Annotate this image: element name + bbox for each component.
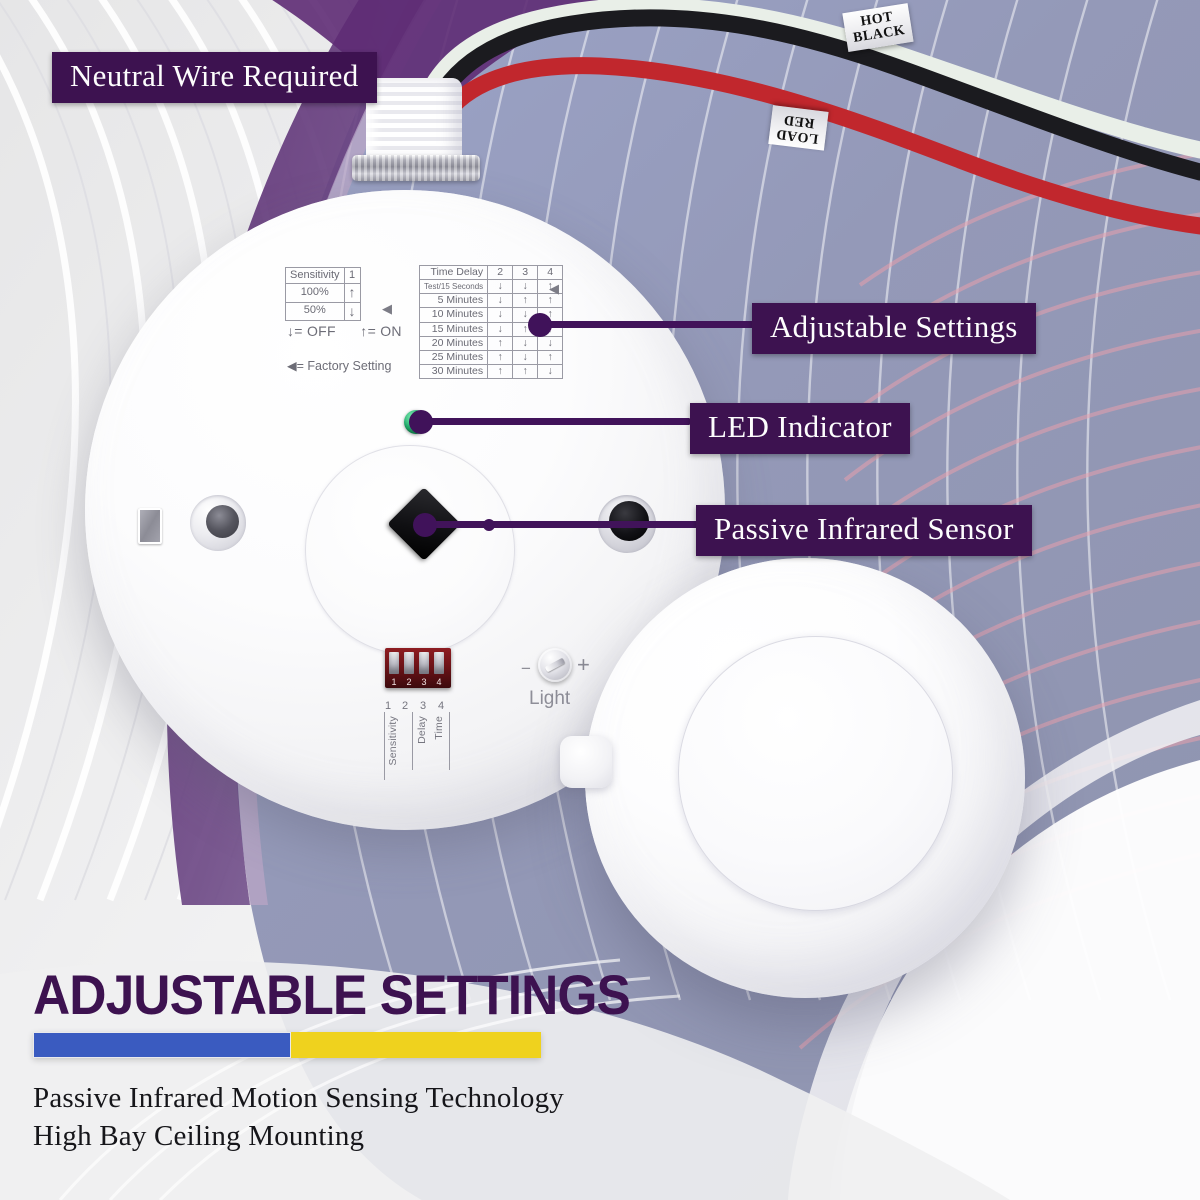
leader-midpoint-pir-sensor <box>483 519 495 531</box>
dip-switch-number-4: 4 <box>433 677 445 687</box>
dip-legend-group-sensitivity: Sensitivity <box>387 716 399 765</box>
accent-bar-group <box>33 1032 541 1058</box>
delay-row-2-label: 10 Minutes <box>420 308 488 322</box>
mounting-hole <box>190 495 246 551</box>
infographic-canvas: HOT BLACK LOAD RED Sensitivity 1 100% ↑ … <box>0 0 1200 1200</box>
leader-line-led-indicator <box>420 418 690 425</box>
dip-legend-tick-2 <box>412 712 413 770</box>
dip-legend-number-1: 1 <box>385 700 391 712</box>
legend-off-text: ↓= OFF <box>287 323 336 339</box>
legend-factory-setting: ◀= Factory Setting <box>287 358 391 373</box>
factory-marker-delay-icon: ◀ <box>549 281 559 297</box>
factory-marker-sensitivity-icon: ◀ <box>382 301 392 317</box>
leader-dot-led-indicator <box>409 410 433 434</box>
page-title: ADJUSTABLE SETTINGS <box>33 962 630 1027</box>
sensitivity-header-label: Sensitivity <box>286 268 345 284</box>
subtitle-line-1: Passive Infrared Motion Sensing Technolo… <box>33 1082 564 1115</box>
delay-row-0-label: Test/15 Seconds <box>420 280 488 294</box>
dip-switch-block[interactable]: 1 2 3 4 <box>385 648 451 688</box>
dip-switch-lever-3[interactable] <box>419 652 429 674</box>
delay-row-1-label: 5 Minutes <box>420 294 488 308</box>
light-minus-icon: − <box>521 659 531 679</box>
sensitivity-row-100-switch: ↑ <box>344 284 360 303</box>
delay-header-label: Time Delay <box>420 266 488 280</box>
table-row: 30 Minutes ↑ ↑ ↓ <box>420 364 563 378</box>
sensor-inner-ring <box>305 445 515 655</box>
sensitivity-table: Sensitivity 1 100% ↑ 50% ↓ <box>285 267 361 321</box>
conduit-metal-nut <box>352 155 480 181</box>
dip-legend-number-3: 3 <box>420 700 426 712</box>
leader-dot-adjustable-settings <box>528 313 552 337</box>
delay-row-5-label: 25 Minutes <box>420 350 488 364</box>
delay-row-4-sw3: ↓ <box>513 336 538 350</box>
dip-legend-group-time: Time <box>433 716 445 740</box>
accent-bar-blue <box>33 1032 291 1058</box>
delay-row-5-sw3: ↓ <box>513 350 538 364</box>
dome-cover <box>585 558 1025 998</box>
dome-cover-tab <box>560 736 612 788</box>
delay-row-4-sw2: ↑ <box>488 336 513 350</box>
mounting-slot <box>138 508 162 544</box>
delay-row-0-sw2: ↓ <box>488 280 513 294</box>
leader-line-pir-sensor <box>424 521 704 528</box>
table-row: 5 Minutes ↓ ↑ ↑ <box>420 294 563 308</box>
sensitivity-row-50-switch: ↓ <box>344 302 360 321</box>
callout-led-indicator: LED Indicator <box>690 403 910 454</box>
light-knob-label: Light <box>529 688 570 710</box>
dip-legend-tick-3 <box>449 712 450 770</box>
callout-pir-sensor: Passive Infrared Sensor <box>696 505 1032 556</box>
delay-header-sw4: 4 <box>538 266 563 280</box>
delay-row-6-sw4: ↓ <box>538 364 563 378</box>
table-row: Sensitivity 1 <box>286 268 361 284</box>
delay-row-6-sw3: ↑ <box>513 364 538 378</box>
delay-row-3-label: 15 Minutes <box>420 322 488 336</box>
dip-switch-lever-1[interactable] <box>389 652 399 674</box>
dip-switch-number-3: 3 <box>418 677 430 687</box>
switch-legend: ↓= OFF ↑= ON <box>287 323 402 339</box>
subtitle-line-2: High Bay Ceiling Mounting <box>33 1120 364 1153</box>
dip-legend-number-4: 4 <box>438 700 444 712</box>
table-row: 20 Minutes ↑ ↓ ↓ <box>420 336 563 350</box>
callout-neutral-wire: Neutral Wire Required <box>52 52 377 103</box>
light-plus-icon: + <box>577 652 590 678</box>
delay-header-sw3: 3 <box>513 266 538 280</box>
dip-legend-group-delay: Delay <box>416 716 428 744</box>
delay-row-4-sw4: ↓ <box>538 336 563 350</box>
light-level-knob[interactable] <box>538 648 572 682</box>
sensitivity-header-switch: 1 <box>344 268 360 284</box>
sensitivity-row-50-label: 50% <box>286 302 345 321</box>
leader-line-adjustable-settings <box>540 321 755 328</box>
dip-legend-tick-1 <box>384 712 385 780</box>
wire-tag-load-red: LOAD RED <box>768 105 829 151</box>
accent-bar-yellow <box>291 1032 541 1058</box>
delay-row-5-sw4: ↑ <box>538 350 563 364</box>
delay-row-2-sw2: ↓ <box>488 308 513 322</box>
sensitivity-row-100-label: 100% <box>286 284 345 303</box>
delay-row-3-sw2: ↓ <box>488 322 513 336</box>
dome-cover-lens-ring <box>678 636 953 911</box>
delay-row-0-sw3: ↓ <box>513 280 538 294</box>
delay-row-6-sw2: ↑ <box>488 364 513 378</box>
dip-switch-lever-4[interactable] <box>434 652 444 674</box>
leader-dot-pir-sensor <box>413 513 437 537</box>
delay-row-1-sw2: ↓ <box>488 294 513 308</box>
dip-switch-number-2: 2 <box>403 677 415 687</box>
conduit-threaded-stem <box>366 78 462 160</box>
dip-switch-number-1: 1 <box>388 677 400 687</box>
table-row: 50% ↓ <box>286 302 361 321</box>
table-row: 25 Minutes ↑ ↓ ↑ <box>420 350 563 364</box>
callout-adjustable-settings: Adjustable Settings <box>752 303 1036 354</box>
table-row: 100% ↑ <box>286 284 361 303</box>
table-row: Test/15 Seconds ↓ ↓ ↑ <box>420 280 563 294</box>
delay-row-4-label: 20 Minutes <box>420 336 488 350</box>
delay-row-5-sw2: ↑ <box>488 350 513 364</box>
delay-header-sw2: 2 <box>488 266 513 280</box>
delay-row-6-label: 30 Minutes <box>420 364 488 378</box>
dip-switch-legend: 1 2 3 4 Sensitivity Delay Time <box>383 700 463 785</box>
dip-switch-lever-2[interactable] <box>404 652 414 674</box>
table-row: Time Delay 2 3 4 <box>420 266 563 280</box>
legend-on-text: ↑= ON <box>360 323 402 339</box>
dip-legend-number-2: 2 <box>402 700 408 712</box>
delay-row-1-sw3: ↑ <box>513 294 538 308</box>
